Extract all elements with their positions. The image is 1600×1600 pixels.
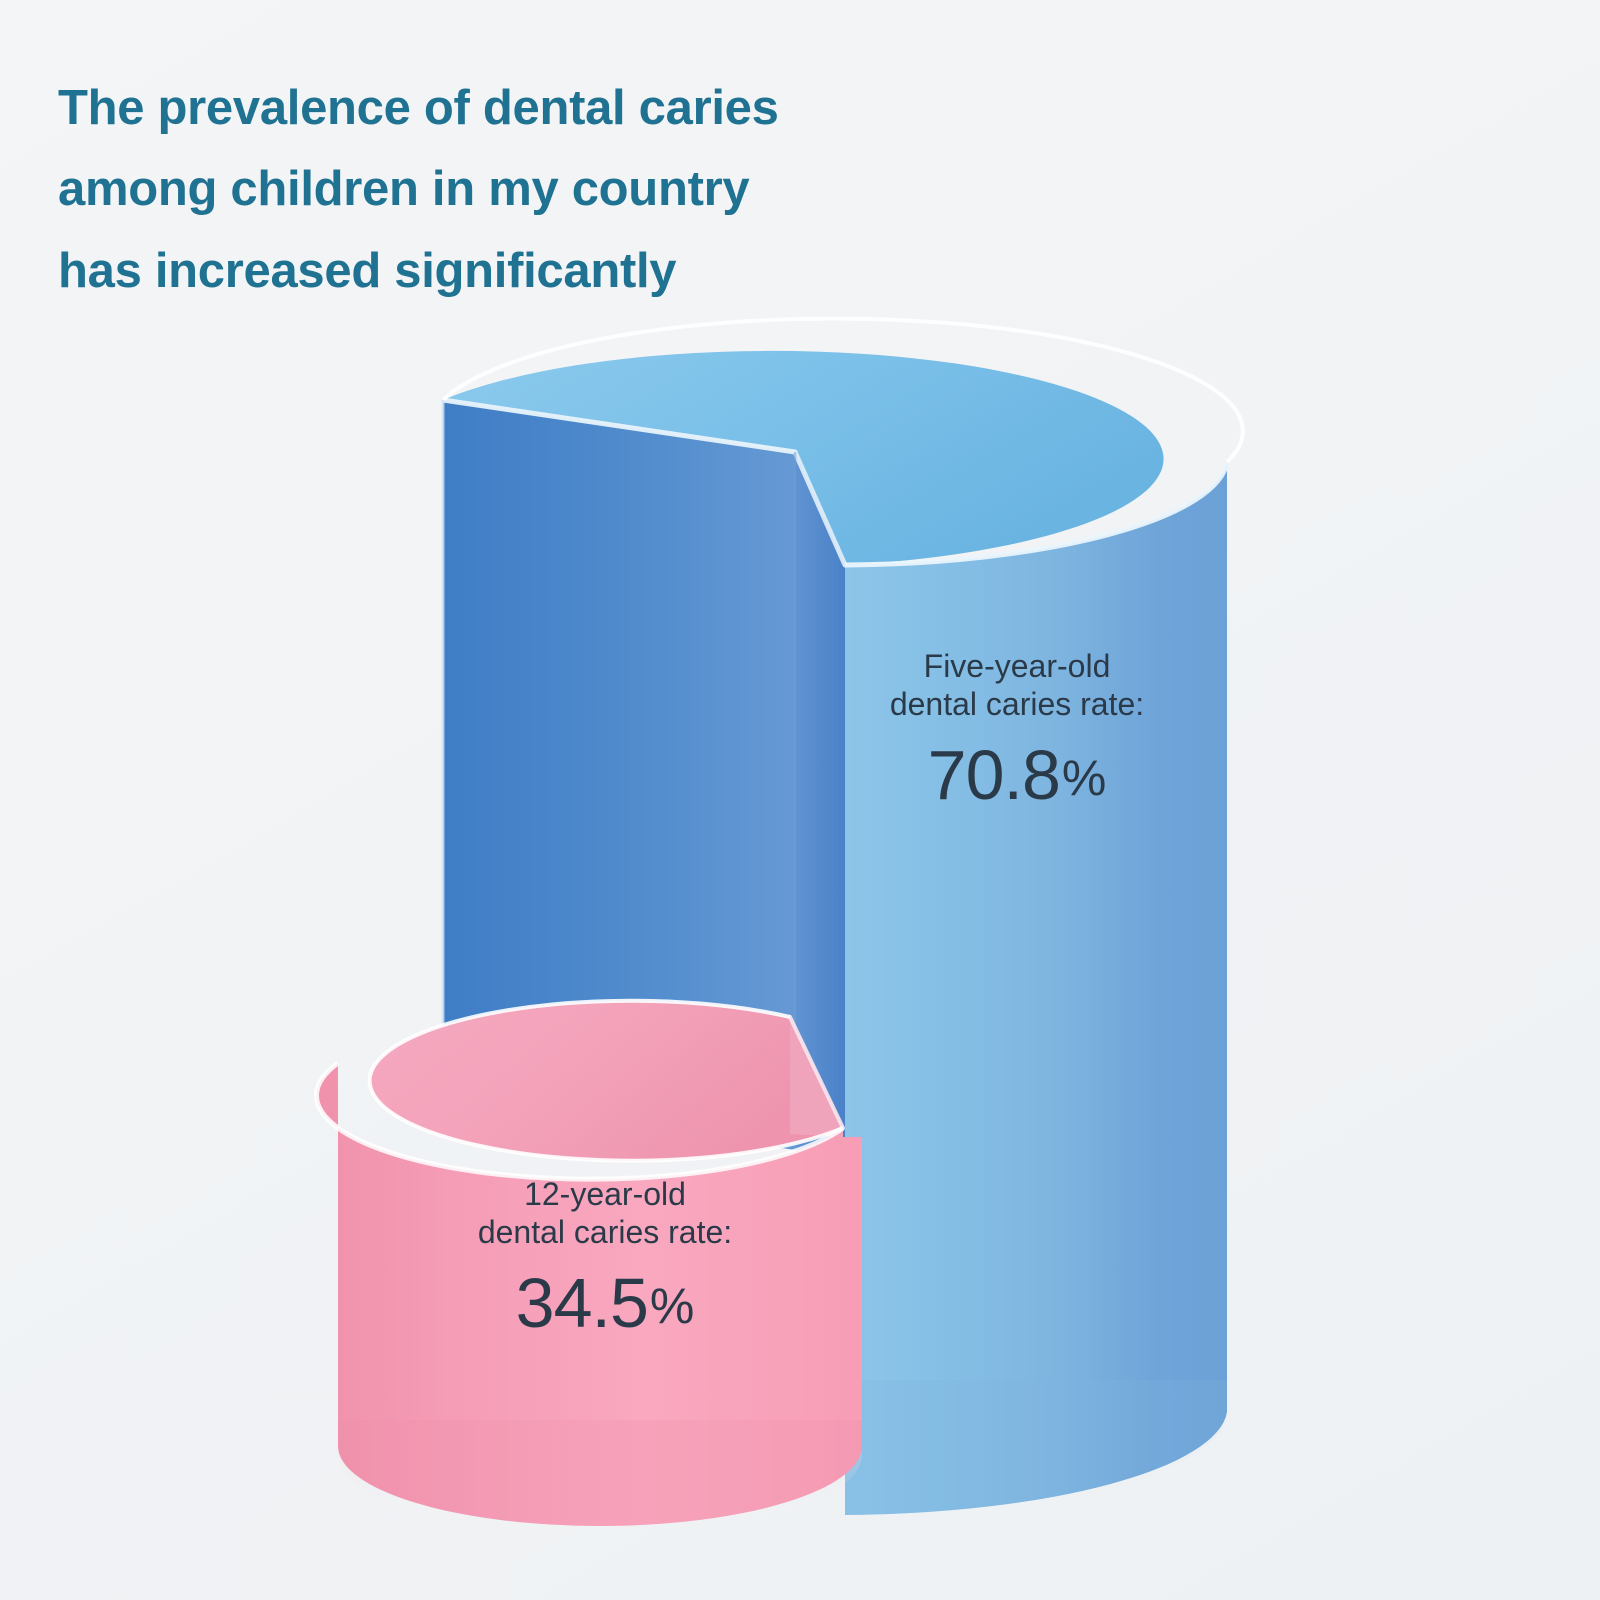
pink-label-value-row: 34.5% [440, 1262, 770, 1345]
pink-label-value: 34.5 [516, 1264, 648, 1342]
blue-label-percent: % [1062, 750, 1106, 806]
pink-label-caption: 12-year-old dental caries rate: [440, 1176, 770, 1252]
blue-value-label: Five-year-old dental caries rate: 70.8% [852, 648, 1182, 816]
blue-label-value: 70.8 [928, 736, 1060, 814]
cylinder-chart [0, 0, 1600, 1600]
infographic-canvas: The prevalence of dental caries among ch… [0, 0, 1600, 1600]
blue-front-overlap [862, 1137, 1227, 1515]
pink-label-percent: % [650, 1278, 694, 1334]
blue-label-caption: Five-year-old dental caries rate: [852, 648, 1182, 724]
pink-value-label: 12-year-old dental caries rate: 34.5% [440, 1176, 770, 1344]
blue-label-value-row: 70.8% [852, 734, 1182, 817]
